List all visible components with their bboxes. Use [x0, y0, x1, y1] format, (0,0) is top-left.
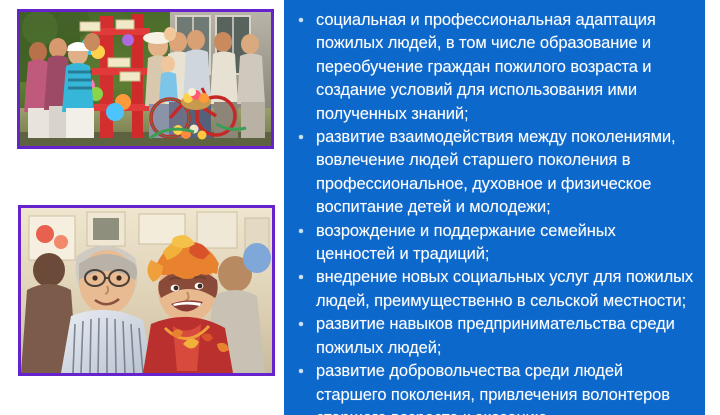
bullet-text: развитие добровольчества среди людей ста…	[316, 362, 670, 415]
two-women-artwork	[21, 208, 272, 373]
bullet-text: социальная и профессиональная адаптация …	[316, 11, 656, 123]
list-item: возрождение и поддержание семейных ценно…	[284, 220, 705, 267]
presentation-slide: социальная и профессиональная адаптация …	[0, 0, 720, 415]
bullet-marker-icon	[299, 229, 303, 233]
bullet-list: социальная и профессиональная адаптация …	[284, 9, 705, 415]
bullet-marker-icon	[299, 322, 303, 326]
list-item: развитие добровольчества среди людей ста…	[284, 360, 705, 415]
group-photo-artwork	[20, 12, 271, 146]
bullet-marker-icon	[299, 135, 303, 139]
bullet-marker-icon	[299, 275, 303, 279]
bullet-text: развитие взаимодействия между поколениям…	[316, 128, 675, 216]
list-item: развитие взаимодействия между поколениям…	[284, 126, 705, 220]
list-item: развитие навыков предпринимательства сре…	[284, 313, 705, 360]
bullet-marker-icon	[299, 369, 303, 373]
bullet-marker-icon	[299, 18, 303, 22]
photo-group-outdoors	[17, 9, 274, 149]
bullet-text: внедрение новых социальных услуг для пож…	[316, 268, 693, 309]
photo-two-women	[18, 205, 275, 376]
list-item: внедрение новых социальных услуг для пож…	[284, 266, 705, 313]
list-item: социальная и профессиональная адаптация …	[284, 9, 705, 126]
bullet-text: развитие навыков предпринимательства сре…	[316, 315, 675, 356]
content-panel: социальная и профессиональная адаптация …	[284, 0, 705, 415]
bullet-text: возрождение и поддержание семейных ценно…	[316, 222, 616, 263]
